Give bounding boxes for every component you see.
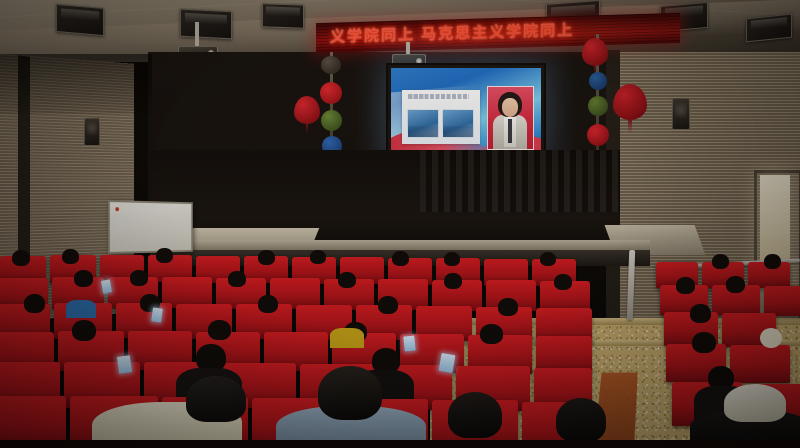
decor-ball-green-right (588, 96, 608, 116)
broadcast-presenter (487, 86, 534, 151)
audience-head (444, 273, 462, 289)
presenter-face (502, 98, 518, 117)
auditorium-photo: 义学院同上 马克思主义学院同上 (0, 0, 800, 448)
audience-head (258, 250, 275, 265)
ceiling-light-fixture (262, 3, 304, 28)
seat[interactable] (730, 345, 790, 383)
foreground-head-cap (186, 376, 246, 422)
decor-lantern-left (294, 96, 320, 124)
decor-ball-blue-right (589, 72, 607, 90)
audience-head (540, 252, 556, 266)
decor-ball-green (321, 110, 342, 131)
whiteboard-marker-dot (115, 207, 119, 211)
audience-head (726, 276, 745, 293)
wall-shadow (0, 54, 152, 114)
audience-head (130, 270, 148, 286)
seat[interactable] (764, 286, 800, 316)
decor-ball-red-right (587, 124, 609, 146)
audience-head (676, 277, 695, 294)
ceiling-light-fixture (180, 9, 232, 40)
audience-head (228, 271, 246, 287)
decor-lantern-right-big (613, 84, 647, 120)
foreground-head-white-cap (724, 384, 786, 422)
audience-head (760, 328, 782, 348)
audience-head (444, 252, 460, 266)
audience-head (554, 274, 572, 290)
audience-head (690, 304, 711, 323)
wall-speaker-left (84, 118, 100, 146)
slide-thumbnail (407, 109, 439, 137)
seat-shadow-gap (0, 440, 800, 448)
audience-head (258, 295, 278, 313)
stage-curtain (420, 150, 620, 212)
audience-head (378, 296, 398, 314)
decor-ball-dark-top (321, 56, 341, 74)
broadcast-slide (402, 90, 480, 145)
slide-thumbnail (442, 109, 474, 137)
phone-screen[interactable] (117, 355, 132, 374)
whiteboard (108, 200, 193, 254)
audience-head (72, 320, 96, 341)
audience-head (24, 294, 45, 313)
slide-title-line (408, 94, 469, 98)
audience-head (62, 249, 79, 264)
audience-head (480, 324, 503, 344)
audience-head (208, 320, 231, 340)
audience-torso (66, 300, 96, 318)
audience-head (712, 254, 729, 269)
audience-head (74, 270, 93, 287)
ceiling-light-fixture (746, 14, 792, 43)
ceiling-light-fixture (56, 4, 104, 36)
audience-head (498, 298, 518, 316)
decor-ball-red (320, 82, 342, 104)
phone-screen[interactable] (151, 307, 163, 322)
wall-speaker-right (672, 98, 690, 130)
audience-head (692, 332, 716, 353)
audience-torso (330, 328, 364, 348)
foreground-head-side (556, 398, 606, 442)
audience-head (392, 251, 409, 266)
foreground-head-dark (318, 366, 382, 420)
audience-head (156, 248, 173, 263)
decor-lantern-right-top (582, 38, 608, 66)
audience-head (12, 250, 30, 266)
audience-head (310, 250, 326, 264)
audience-head (764, 254, 781, 269)
foreground-head-side (448, 392, 502, 438)
audience-head (338, 272, 356, 288)
presenter-collar (508, 119, 512, 143)
phone-screen[interactable] (403, 335, 416, 351)
